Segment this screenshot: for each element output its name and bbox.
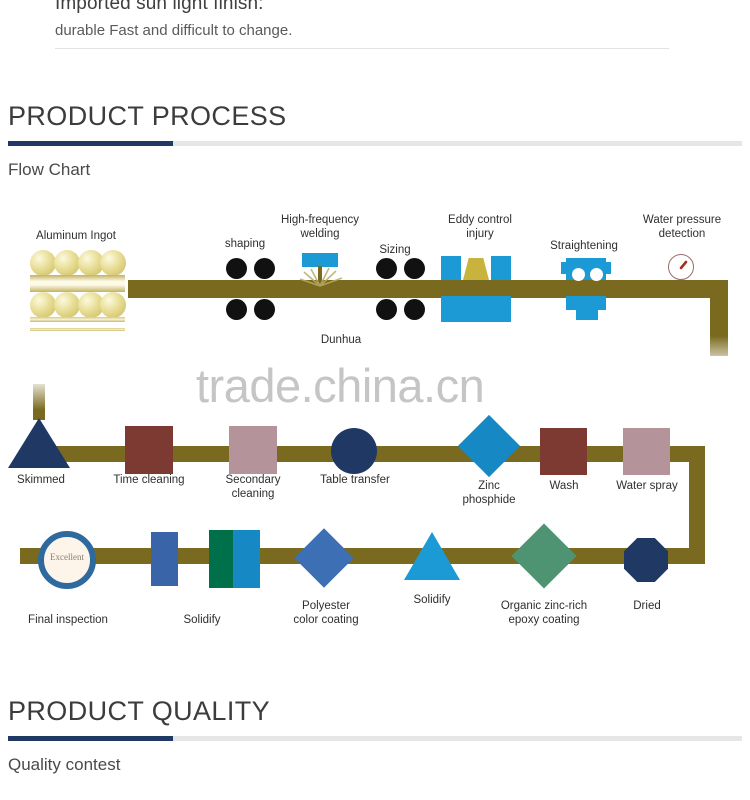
section-product-process: PRODUCT PROCESS Flow Chart bbox=[8, 100, 742, 181]
label-high-frequency-welding: High-frequency welding bbox=[268, 214, 372, 241]
icon-dried-octagon bbox=[624, 538, 668, 582]
track-row1-fade bbox=[706, 336, 736, 374]
icon-solidify-rect bbox=[151, 532, 178, 586]
icon-table-transfer bbox=[331, 428, 377, 474]
track-row2-entry-fade bbox=[26, 374, 54, 410]
label-solidify-1: Solidify bbox=[160, 614, 244, 628]
icon-wash bbox=[540, 428, 587, 475]
weld-sparks-icon bbox=[298, 266, 344, 290]
flow-chart: Aluminum Ingot shaping High-frequency we… bbox=[0, 196, 750, 656]
icon-aluminum-ingot bbox=[30, 250, 130, 342]
track-row1-main bbox=[128, 280, 728, 298]
section-accent-quality bbox=[8, 736, 173, 741]
label-skimmed: Skimmed bbox=[0, 474, 86, 488]
icon-solidify-triangle bbox=[404, 532, 460, 580]
intro-subtitle: durable Fast and difficult to change. bbox=[55, 20, 675, 42]
final-inspection-stamp-text: Excellent bbox=[44, 552, 90, 562]
label-straightening: Straightening bbox=[534, 240, 634, 254]
label-water-spray: Water spray bbox=[601, 480, 693, 494]
label-sizing: Sizing bbox=[350, 244, 440, 258]
label-secondary-cleaning: Secondary cleaning bbox=[205, 474, 301, 501]
section-subtitle-quality-contest: Quality contest bbox=[8, 754, 742, 776]
icon-zinc-phosphide bbox=[458, 415, 520, 477]
label-dunhua: Dunhua bbox=[296, 334, 386, 348]
section-title-quality: PRODUCT QUALITY bbox=[8, 695, 742, 727]
icon-organic-zinc-epoxy bbox=[511, 523, 576, 588]
page-root: Imported sun light finish: durable Fast … bbox=[0, 0, 750, 800]
intro-block: Imported sun light finish: durable Fast … bbox=[55, 0, 675, 42]
icon-water-spray bbox=[623, 428, 670, 475]
label-time-cleaning: Time cleaning bbox=[92, 474, 206, 488]
label-wash: Wash bbox=[522, 480, 606, 494]
icon-polyester-coating bbox=[294, 528, 353, 587]
section-divider-process bbox=[8, 141, 742, 146]
label-final-inspection: Final inspection bbox=[10, 614, 126, 628]
icon-time-cleaning bbox=[125, 426, 173, 474]
label-zinc-phosphide: Zinc phosphide bbox=[445, 480, 533, 507]
track-row3-return bbox=[20, 548, 705, 564]
section-title-process: PRODUCT PROCESS bbox=[8, 100, 742, 132]
track-row2-right-down bbox=[689, 446, 705, 556]
label-solidify-2: Solidify bbox=[390, 594, 474, 608]
label-eddy-control-injury: Eddy control injury bbox=[428, 214, 532, 241]
icon-final-inspection-ring: Excellent bbox=[38, 531, 96, 589]
section-divider-quality bbox=[8, 736, 742, 741]
label-dried: Dried bbox=[613, 600, 681, 614]
intro-divider bbox=[55, 48, 669, 49]
label-table-transfer: Table transfer bbox=[300, 474, 410, 488]
label-aluminum-ingot: Aluminum Ingot bbox=[10, 230, 142, 244]
intro-title: Imported sun light finish: bbox=[55, 0, 675, 16]
icon-skimmed-triangle bbox=[8, 418, 70, 468]
label-polyester-color-coating: Polyester color coating bbox=[278, 600, 374, 627]
icon-pressure-gauge bbox=[668, 254, 694, 280]
section-subtitle-flow-chart: Flow Chart bbox=[8, 159, 742, 181]
section-product-quality: PRODUCT QUALITY Quality contest bbox=[8, 695, 742, 776]
label-organic-zinc-rich-epoxy-coating: Organic zinc-rich epoxy coating bbox=[482, 600, 606, 627]
icon-secondary-cleaning bbox=[229, 426, 277, 474]
section-accent-process bbox=[8, 141, 173, 146]
label-water-pressure-detection: Water pressure detection bbox=[626, 214, 738, 241]
